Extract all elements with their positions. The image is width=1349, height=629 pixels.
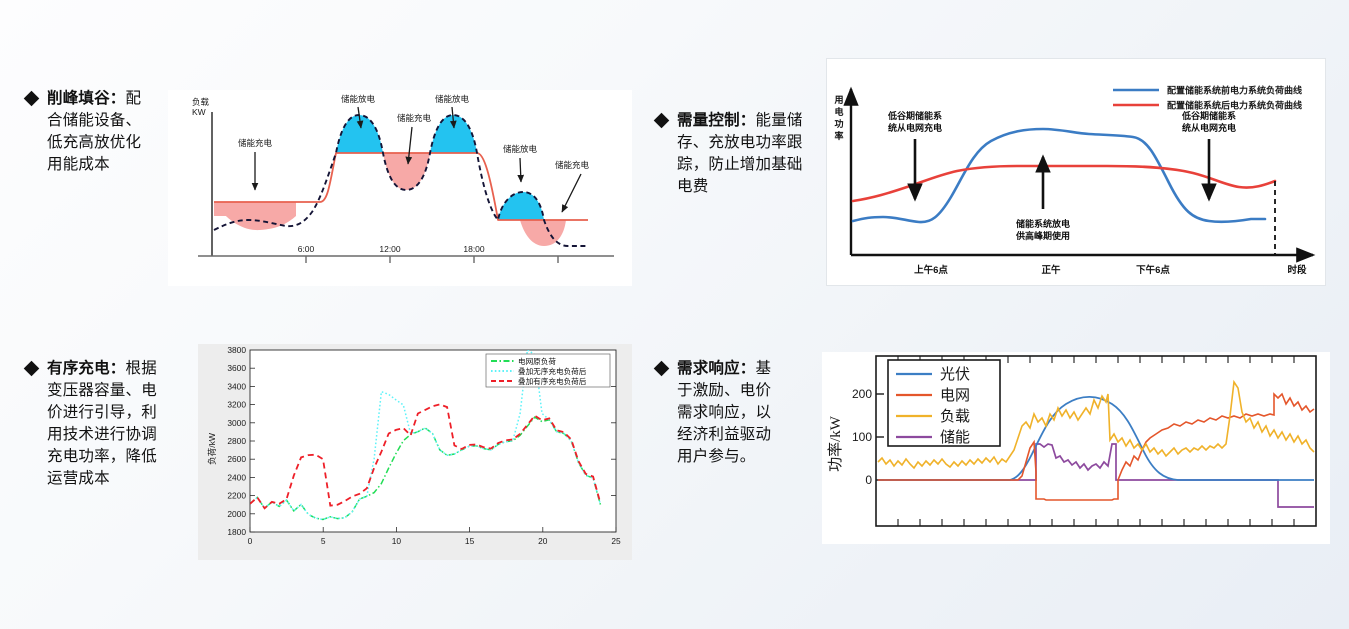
legend-label: 配置储能系统前电力系统负荷曲线 (1167, 85, 1302, 96)
annotation-label: 储能充电 (397, 113, 432, 123)
y-tick-label: 2400 (227, 472, 246, 482)
y-axis-label-char: 功 (834, 118, 843, 129)
bullet-orderly-charging: 有序充电：根据变压器容量、电价进行引导，利用技术进行协调充电功率，降低运营成本 (26, 358, 166, 490)
y-tick-label: 2200 (227, 491, 246, 501)
bullet-orderly-charging-body: 根据变压器容量、电价进行引导，利用技术进行协调充电功率，降低运营成本 (47, 360, 157, 487)
chart-orderly-charging: 1800 2000 2200 2400 2600 2800 3000 3200 … (198, 344, 632, 560)
annotation-label: 低谷期储能系 (1181, 110, 1236, 121)
y-axis-label-line2: KW (192, 107, 206, 117)
y-tick-label: 1800 (227, 527, 246, 537)
y-tick-label: 3200 (227, 400, 246, 410)
bullet-peak-shaving: 削峰填谷：配合储能设备、低充高放优化用能成本 (26, 88, 156, 176)
legend-label: 配置储能系统后电力系统负荷曲线 (1167, 100, 1302, 111)
legend-label: 负载 (940, 408, 970, 425)
bullet-demand-response-text: 需求响应：基于激励、电价需求响应，以经济利益驱动用户参与。 (677, 358, 786, 468)
diamond-bullet-icon (24, 361, 40, 377)
legend: 电网原负荷 叠加无序充电负荷后 叠加有序充电负荷后 (486, 354, 610, 387)
slide-root: 削峰填谷：配合储能设备、低充高放优化用能成本 需量控制：能量储存、充放电功率跟踪… (0, 0, 1349, 629)
x-tick-label: 正午 (1041, 264, 1061, 276)
x-tick-label: 18:00 (463, 244, 485, 254)
annotation-label: 储能放电 (341, 94, 376, 104)
y-axis-label-char: 电 (834, 106, 843, 117)
y-tick-label: 100 (852, 430, 872, 444)
y-tick-label: 3600 (227, 363, 246, 373)
diamond-bullet-icon (654, 113, 670, 129)
y-tick-label: 2000 (227, 509, 246, 519)
legend-label: 叠加有序充电负荷后 (518, 376, 587, 386)
legend-label: 光伏 (940, 366, 970, 383)
annotation-label: 储能充电 (238, 138, 273, 148)
x-tick-label: 10 (392, 536, 402, 546)
demand-response-svg: 200 100 0 (822, 352, 1330, 544)
legend-label: 电网 (940, 387, 970, 404)
x-tick-label: 上午6点 (914, 264, 948, 276)
bullet-demand-control: 需量控制：能量储存、充放电功率跟踪，防止增加基础电费 (656, 110, 806, 198)
x-tick-label: 0 (248, 536, 253, 546)
diamond-bullet-icon (654, 361, 670, 377)
bullet-peak-shaving-text: 削峰填谷：配合储能设备、低充高放优化用能成本 (47, 88, 156, 176)
y-tick-label: 2600 (227, 454, 246, 464)
legend-label: 电网原负荷 (518, 356, 556, 366)
annotation-label: 储能充电 (555, 160, 590, 170)
bullet-peak-shaving-title: 削峰填谷： (47, 90, 126, 107)
x-tick-label: 下午6点 (1136, 264, 1170, 276)
x-tick-label: 5 (321, 536, 326, 546)
y-tick-label: 3000 (227, 418, 246, 428)
bullet-orderly-charging-text: 有序充电：根据变压器容量、电价进行引导，利用技术进行协调充电功率，降低运营成本 (47, 358, 166, 490)
annotation-label: 储能放电 (435, 94, 470, 104)
x-tick-label: 6:00 (298, 244, 315, 254)
x-tick-label: 12:00 (379, 244, 401, 254)
bullet-demand-control-text: 需量控制：能量储存、充放电功率跟踪，防止增加基础电费 (677, 110, 806, 198)
y-axis-label-char: 率 (834, 130, 843, 141)
bullet-demand-control-title: 需量控制： (677, 112, 756, 129)
y-tick-label: 200 (852, 387, 872, 401)
legend: 光伏 电网 负载 储能 (888, 360, 1000, 446)
diamond-bullet-icon (24, 91, 40, 107)
x-tick-label: 20 (538, 536, 548, 546)
annotation-label: 统从电网充电 (888, 122, 942, 133)
orderly-charging-svg: 1800 2000 2200 2400 2600 2800 3000 3200 … (198, 344, 632, 560)
y-tick-label: 3800 (227, 345, 246, 355)
bullet-demand-response-title: 需求响应： (677, 360, 756, 377)
y-tick-label: 0 (865, 473, 872, 487)
annotation-label: 供高峰期使用 (1015, 230, 1070, 241)
x-tick-label: 25 (611, 536, 621, 546)
annotation-label: 低谷期储能系 (887, 110, 942, 121)
annotation-label: 储能系统放电 (1016, 218, 1070, 229)
y-axis-label: 功率/kW (827, 415, 844, 472)
annotation-label: 统从电网充电 (1182, 122, 1236, 133)
chart-demand-control: 用 电 功 率 配置储能系统前电力系统负荷曲线 配置储能系统后电力系统负荷曲线 … (826, 58, 1326, 286)
y-tick-label: 2800 (227, 436, 246, 446)
bullet-demand-response: 需求响应：基于激励、电价需求响应，以经济利益驱动用户参与。 (656, 358, 786, 468)
annotation-label: 储能放电 (503, 144, 538, 154)
x-axis-label: 时段 (1287, 264, 1307, 276)
y-axis-label-char: 用 (833, 95, 843, 105)
bullet-orderly-charging-title: 有序充电： (47, 360, 126, 377)
peak-shaving-svg: 负载 KW 6:00 12:00 18:00 储能充电 储能放电 储能充电 储能… (168, 90, 632, 286)
legend-label: 叠加无序充电负荷后 (518, 366, 587, 376)
y-tick-label: 3400 (227, 381, 246, 391)
chart-demand-response: 200 100 0 (822, 352, 1330, 544)
x-tick-label: 15 (465, 536, 475, 546)
chart-peak-shaving: 负载 KW 6:00 12:00 18:00 储能充电 储能放电 储能充电 储能… (168, 90, 632, 286)
demand-control-svg: 用 电 功 率 配置储能系统前电力系统负荷曲线 配置储能系统后电力系统负荷曲线 … (827, 59, 1325, 285)
legend-label: 储能 (940, 429, 970, 446)
y-axis-label: 负荷/kW (206, 432, 217, 465)
y-axis-label-line1: 负载 (192, 97, 210, 107)
